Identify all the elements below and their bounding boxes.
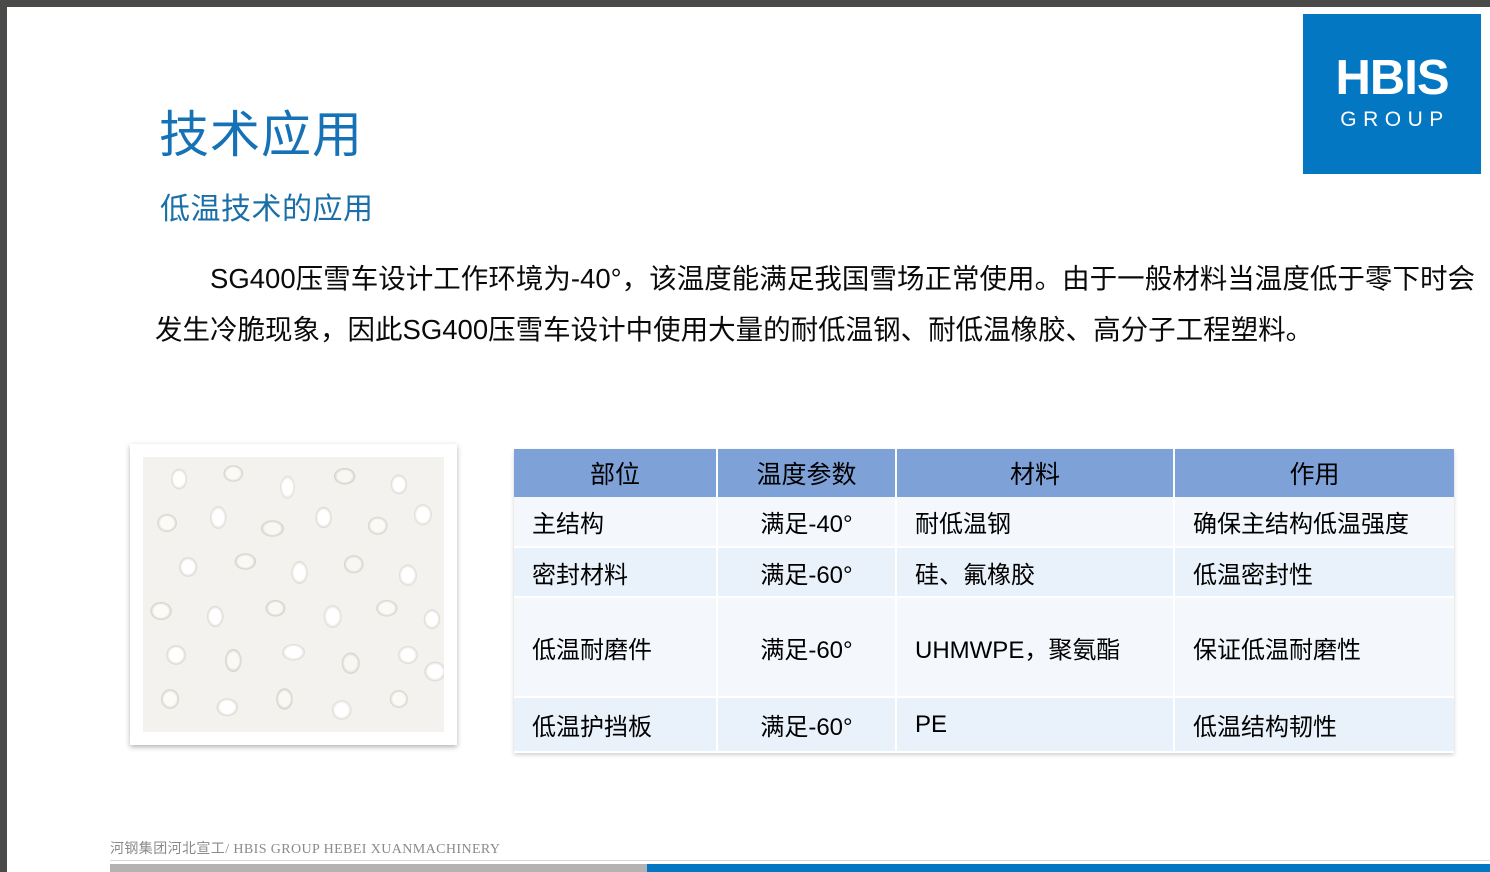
logo-wordmark: HBIS (1335, 54, 1448, 103)
cell-function: 低温密封性 (1174, 547, 1454, 597)
slide-frame: HBIS GROUP 技术应用 低温技术的应用 SG400压雪车设计工作环境为-… (0, 0, 1490, 872)
footer-bar-gray (110, 864, 647, 872)
page-title: 技术应用 (159, 110, 363, 160)
table-row: 主结构 满足-40° 耐低温钢 确保主结构低温强度 (514, 497, 1454, 547)
table-header-cell-part: 部位 (514, 449, 717, 497)
table-header-cell-temperature: 温度参数 (717, 449, 896, 497)
footer-company-line: 河钢集团河北宣工/ HBIS GROUP HEBEI XUANMACHINERY (110, 838, 500, 858)
cell-function: 低温结构韧性 (1174, 697, 1454, 752)
cell-temperature: 满足-40° (717, 497, 896, 547)
logo-subtext: GROUP (1340, 109, 1450, 130)
table-header-cell-material: 材料 (896, 449, 1174, 497)
table-header-row: 部位 温度参数 材料 作用 (514, 449, 1454, 497)
cell-temperature: 满足-60° (717, 597, 896, 697)
cell-part: 低温护挡板 (514, 697, 717, 752)
low-temperature-spec-table: 部位 温度参数 材料 作用 主结构 满足-40° 耐低温钢 确保主结构低温强度 … (514, 449, 1454, 753)
cell-temperature: 满足-60° (717, 547, 896, 597)
table-row: 低温耐磨件 满足-60° UHMWPE，聚氨酯 保证低温耐磨性 (514, 597, 1454, 697)
table-header-cell-function: 作用 (1174, 449, 1454, 497)
cell-material: 耐低温钢 (896, 497, 1174, 547)
cell-material: 硅、氟橡胶 (896, 547, 1174, 597)
cell-material: PE (896, 697, 1174, 752)
table-row: 密封材料 满足-60° 硅、氟橡胶 低温密封性 (514, 547, 1454, 597)
page-subtitle: 低温技术的应用 (160, 195, 374, 225)
body-paragraph: SG400压雪车设计工作环境为-40°，该温度能满足我国雪场正常使用。由于一般材… (155, 253, 1475, 355)
footer-bar-blue (647, 864, 1490, 872)
cell-function: 确保主结构低温强度 (1174, 497, 1454, 547)
plastic-pellets-photo (130, 444, 457, 745)
cell-material: UHMWPE，聚氨酯 (896, 597, 1174, 697)
cell-part: 低温耐磨件 (514, 597, 717, 697)
slide-canvas: HBIS GROUP 技术应用 低温技术的应用 SG400压雪车设计工作环境为-… (7, 7, 1490, 872)
footer-divider (110, 860, 1490, 861)
cell-temperature: 满足-60° (717, 697, 896, 752)
cell-function: 保证低温耐磨性 (1174, 597, 1454, 697)
photo-image (143, 457, 444, 732)
hbis-group-logo: HBIS GROUP (1303, 14, 1481, 174)
photo-texture-layer (143, 457, 444, 732)
cell-part: 密封材料 (514, 547, 717, 597)
cell-part: 主结构 (514, 497, 717, 547)
table-row: 低温护挡板 满足-60° PE 低温结构韧性 (514, 697, 1454, 752)
